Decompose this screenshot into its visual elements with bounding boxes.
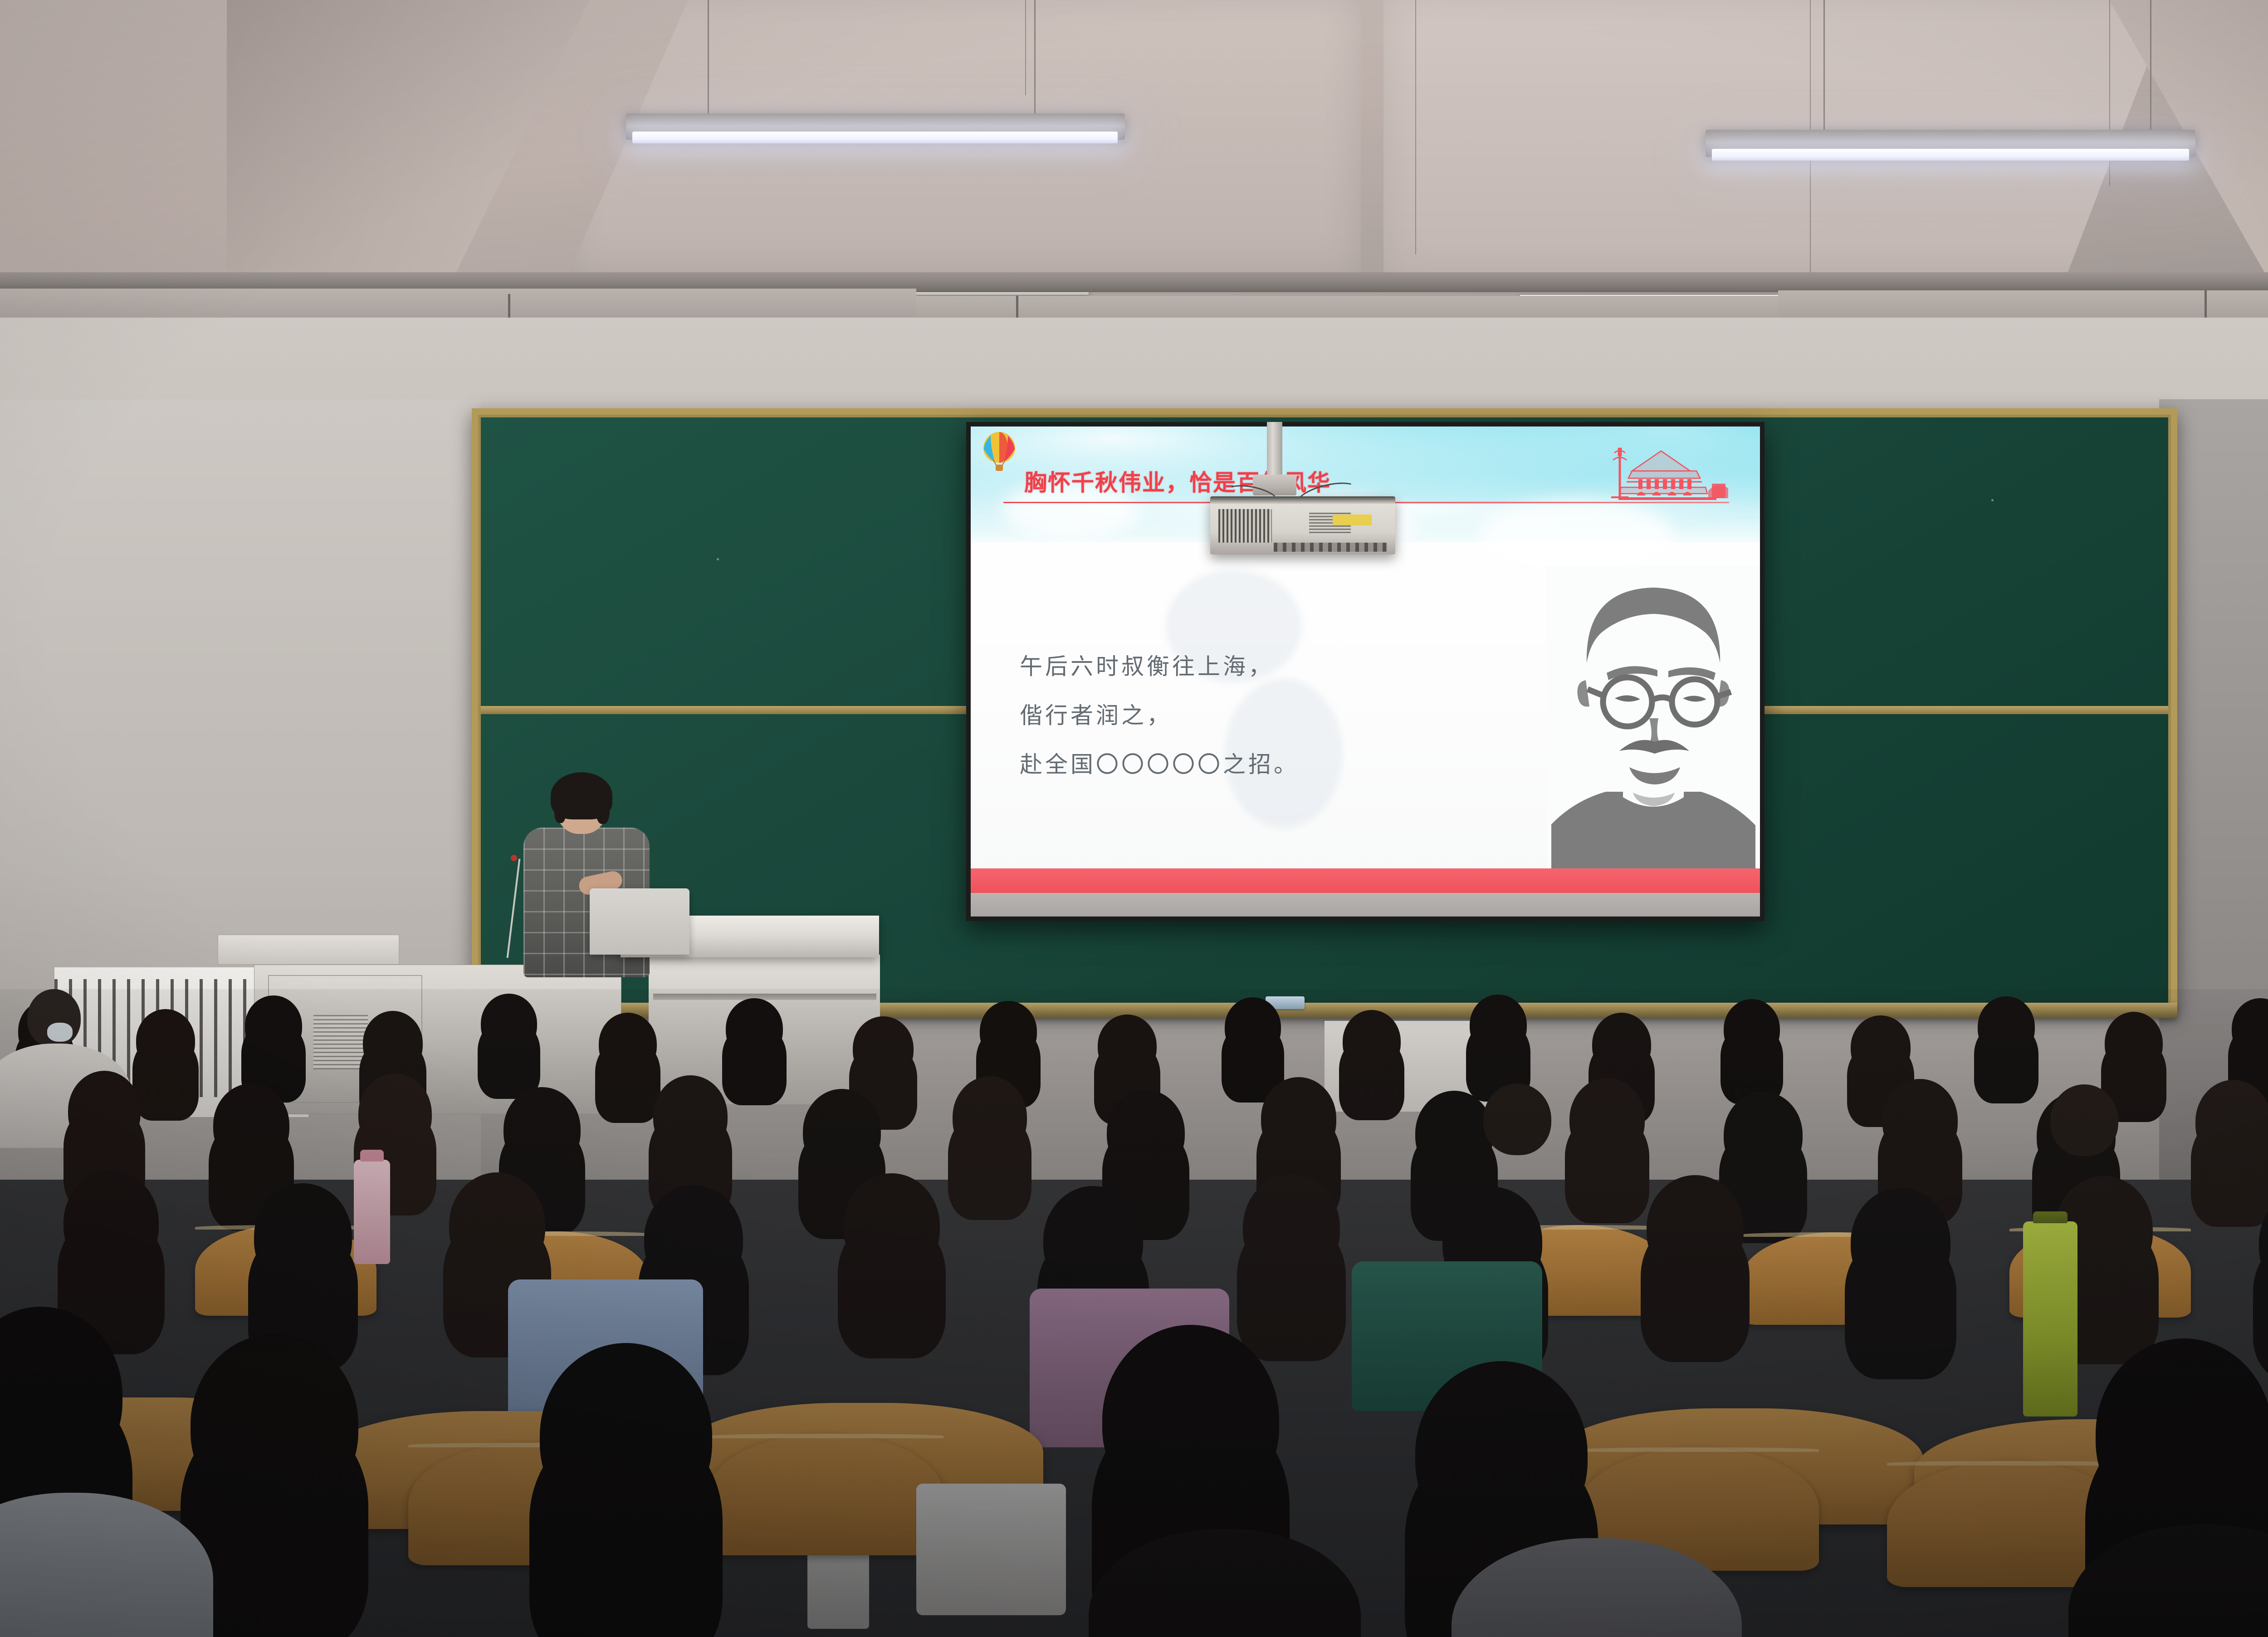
light-cord (1034, 0, 1036, 116)
water-bottle[interactable] (2023, 1221, 2077, 1416)
projector-ports (1274, 543, 1387, 552)
bottle-cap (2033, 1211, 2068, 1223)
portrait-graphic (1547, 566, 1760, 883)
tiananmen-gate-icon (1593, 440, 1743, 522)
fluorescent-tube (1712, 149, 2189, 161)
student-head (853, 1016, 914, 1081)
student-head (726, 998, 783, 1059)
projector-sticker (1333, 515, 1372, 525)
slide-text-block: 午后六时叔衡往上海， 偕行者润之， 赴全国〇〇〇〇〇之招。 (1020, 642, 1299, 789)
slide-footer-base (971, 893, 1760, 917)
student-head (1261, 1077, 1336, 1160)
control-console (218, 935, 399, 965)
student-head (653, 1075, 728, 1157)
slide-line: 赴全国〇〇〇〇〇之招。 (1020, 740, 1299, 789)
fluorescent-tube (632, 132, 1118, 143)
projector-mount-pole (1267, 422, 1282, 481)
student-head (953, 1076, 1027, 1158)
student-head (644, 1185, 743, 1293)
presenter-laptop[interactable] (590, 888, 689, 955)
lecturer-hair (551, 772, 612, 819)
student-head (2195, 1080, 2268, 1163)
student-head (1851, 1188, 1950, 1297)
bottle-cap (360, 1150, 383, 1162)
tote-bag (916, 1484, 1066, 1615)
slide-body: 午后六时叔衡往上海， 偕行者润之， 赴全国〇〇〇〇〇之招。 (971, 542, 1760, 917)
student-head (844, 1173, 940, 1279)
slide-line: 午后六时叔衡往上海， (1020, 642, 1299, 691)
student-head (2105, 1012, 2163, 1074)
student-head (1647, 1175, 1744, 1281)
student-head (2050, 1084, 2118, 1156)
student-head (803, 1089, 881, 1174)
student-head (1098, 1015, 1157, 1077)
student-head (1415, 1361, 1588, 1547)
lecture-chair[interactable] (708, 1434, 943, 1555)
ceiling-light-fixture (1706, 130, 2241, 211)
microphone-tip (511, 855, 517, 861)
student-head (64, 1171, 159, 1275)
chalk-mark (1991, 499, 1994, 501)
student-head (980, 1001, 1037, 1062)
student-head (599, 1013, 657, 1075)
slide-line: 偕行者润之， (1020, 691, 1299, 740)
student-head (1569, 1078, 1645, 1161)
student-head (363, 1011, 423, 1075)
student-head (1225, 997, 1281, 1057)
student-head (1415, 1091, 1493, 1176)
student-head (481, 994, 537, 1054)
chalk-mark (717, 558, 719, 560)
student-head (1882, 1079, 1958, 1162)
student-head (1102, 1325, 1279, 1515)
water-bottle[interactable] (354, 1160, 390, 1264)
student-head (1851, 1015, 1911, 1079)
student-head (503, 1087, 581, 1171)
ceiling-seam (1025, 0, 1026, 95)
student-head (1592, 1013, 1651, 1076)
student-head (1243, 1174, 1340, 1280)
student-head (2096, 1338, 2268, 1529)
student-head (254, 1183, 352, 1290)
face-mask (47, 1023, 73, 1042)
student-head (1978, 996, 2035, 1057)
student-head (358, 1073, 432, 1154)
light-cord (708, 0, 709, 115)
ceiling-coffer-left (227, 0, 590, 281)
student-head (68, 1071, 141, 1151)
student-head (1107, 1090, 1185, 1175)
historical-portrait (1547, 566, 1760, 883)
student-head (540, 1343, 712, 1529)
student-head (449, 1172, 545, 1278)
audience (0, 989, 2268, 1637)
projector-vent (1218, 509, 1272, 543)
lecture-hall-scene: ♥ Redleaf (0, 0, 2268, 1637)
ceiling-light-fixture (626, 113, 1152, 195)
light-cord (2150, 0, 2151, 132)
student-head (2232, 998, 2268, 1059)
student-head (245, 995, 302, 1056)
student-head (213, 1083, 289, 1167)
ceiling-seam (1415, 0, 1416, 254)
student-head (136, 1009, 195, 1073)
student-head (1483, 1083, 1551, 1155)
student-head (1724, 1092, 1803, 1178)
student-head (191, 1334, 358, 1515)
slide-footer-accent (971, 868, 1760, 893)
student-head (1724, 999, 1780, 1059)
student-head (1343, 1010, 1401, 1073)
hot-air-balloon-icon (982, 431, 1017, 475)
light-cord (1823, 0, 1825, 132)
student-head (1043, 1186, 1143, 1295)
student-head (1470, 995, 1527, 1055)
